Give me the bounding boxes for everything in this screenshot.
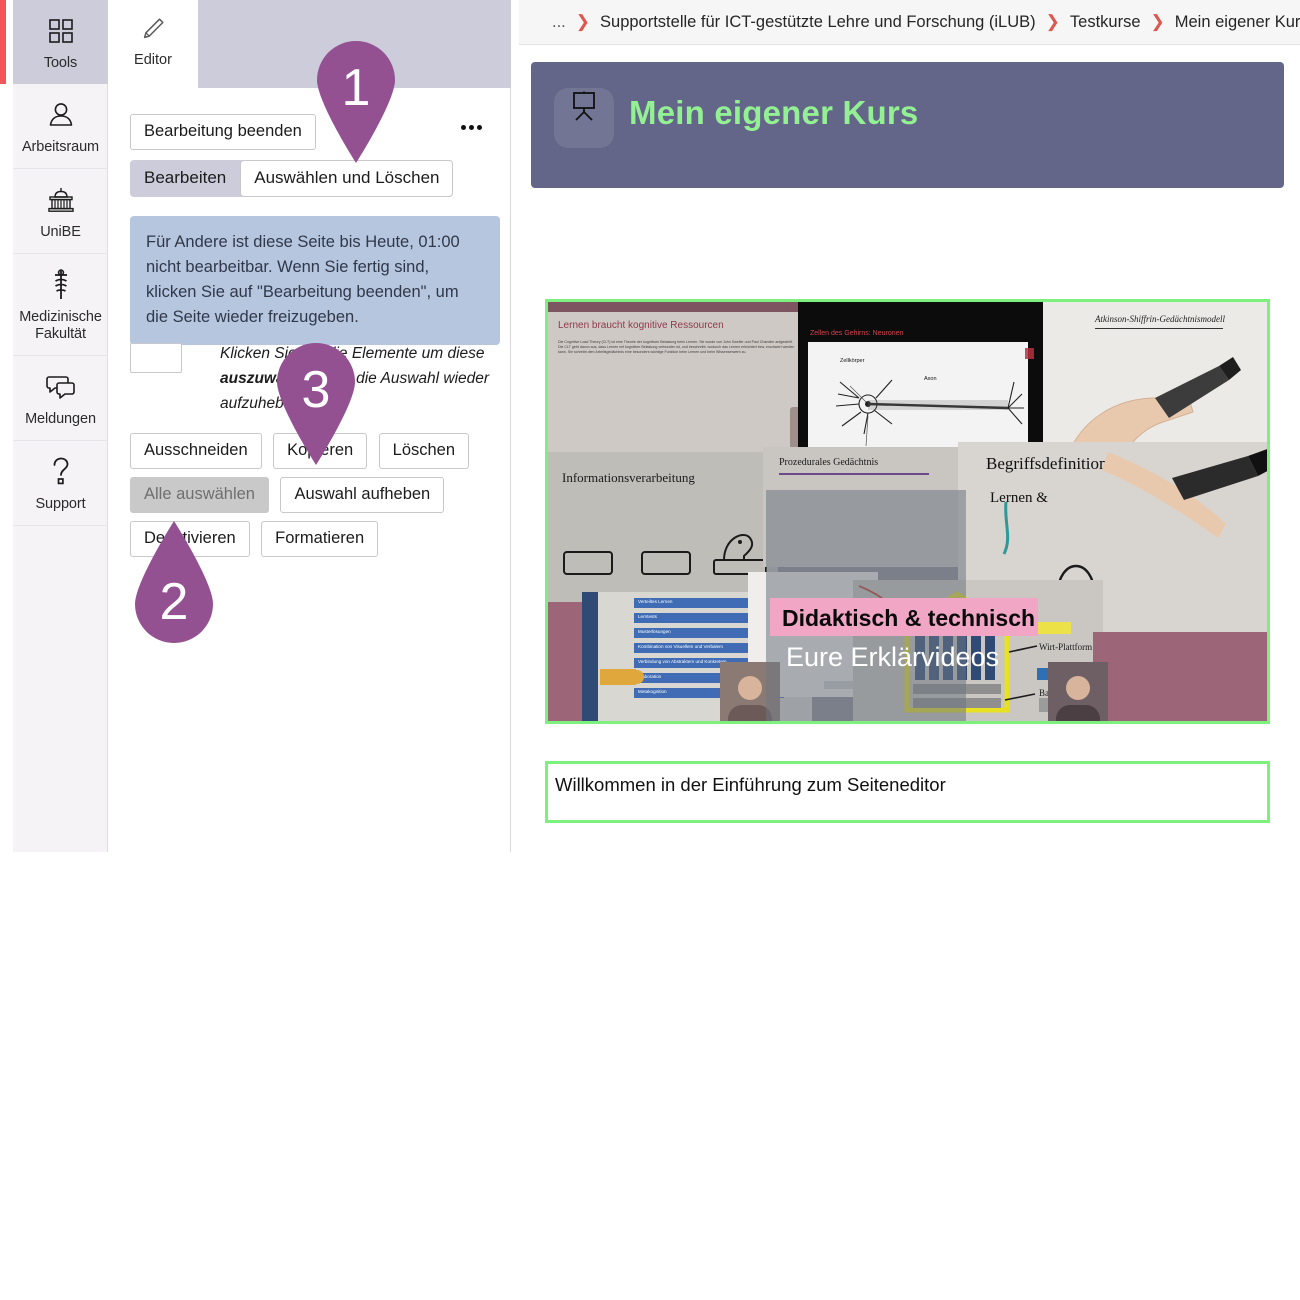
question-mark-icon <box>15 455 106 489</box>
action-row: Ausschneiden Kopieren Löschen <box>130 433 500 469</box>
select-all-button[interactable]: Alle auswählen <box>130 477 269 513</box>
rail-item-support[interactable]: Support <box>13 441 108 526</box>
university-icon <box>15 183 106 217</box>
course-header-banner: Mein eigener Kurs <box>531 62 1284 188</box>
kebab-dot <box>477 125 482 130</box>
rail-item-unibe[interactable]: UniBE <box>13 169 108 254</box>
pencil-icon <box>140 29 166 46</box>
chat-bubbles-icon <box>15 370 106 404</box>
breadcrumb-chevron-icon: ❯ <box>576 0 590 44</box>
collage-bar-label-6: Metakognition <box>638 689 667 694</box>
collage-overlay-title: Didaktisch & technisch 2 <box>782 605 1038 632</box>
deactivate-button[interactable]: Deaktivieren <box>130 521 250 557</box>
collage-handwriting-wirt: Wirt-Plattform <box>1039 642 1099 653</box>
rail-item-arbeitsraum[interactable]: Arbeitsraum <box>13 84 108 169</box>
mode-option-auswaehlen-und-loeschen[interactable]: Auswählen und Löschen <box>240 160 453 197</box>
end-editing-row: Bearbeitung beenden <box>130 114 490 150</box>
collage-bar-label-3: Kombination von Visuellem und Verbalem <box>638 644 723 649</box>
presentation-board-icon <box>554 88 614 148</box>
collage-slide-title: Lernen braucht kognitive Ressourcen <box>558 320 724 331</box>
collage-tile-magenta-block <box>1093 632 1270 724</box>
breadcrumb-ellipsis[interactable]: ... <box>552 0 566 44</box>
collage-overlay-title-band: Didaktisch & technisch 2 <box>770 598 1038 636</box>
format-button[interactable]: Formatieren <box>261 521 378 557</box>
hint-part-1: Klicken Sie auf die Elemente um diese <box>220 345 485 362</box>
cut-button[interactable]: Ausschneiden <box>130 433 262 469</box>
selection-checkbox[interactable] <box>130 343 182 373</box>
breadcrumb-item-testkurse[interactable]: Testkurse <box>1070 0 1141 44</box>
copy-button[interactable]: Kopieren <box>273 433 367 469</box>
collage-neuron-title: Zellen des Gehirns: Neuronen <box>810 330 903 337</box>
collage-bar-label-0: Verteiltes Lernen <box>638 599 672 604</box>
text-paragraph-element[interactable]: Willkommen in der Einführung zum Seitene… <box>545 761 1270 823</box>
rail-item-label: Arbeitsraum <box>15 139 106 156</box>
collage-bar-label-2: Musterlösungen <box>638 629 671 634</box>
action-row: Alle auswählen Auswahl aufheben <box>130 477 500 513</box>
editor-tabstrip: Editor <box>108 0 511 88</box>
media-collage-element[interactable]: Lernen braucht kognitive Ressourcen Die … <box>545 299 1270 724</box>
text-paragraph-content: Willkommen in der Einführung zum Seitene… <box>555 774 946 796</box>
rail-item-label: Medizinische Fakultät <box>15 309 106 343</box>
person-icon <box>15 98 106 132</box>
course-content-area: ... ❯ Supportstelle für ICT-gestützte Le… <box>519 0 1300 852</box>
page-title: Mein eigener Kurs <box>629 94 918 132</box>
deselect-all-button[interactable]: Auswahl aufheben <box>280 477 444 513</box>
tab-editor-label: Editor <box>108 52 198 68</box>
rail-item-label: Support <box>15 496 106 513</box>
asclepius-icon <box>15 268 106 302</box>
rail-item-tools[interactable]: Tools <box>13 0 108 84</box>
selection-hint-text: Klicken Sie auf die Elemente um diese au… <box>220 341 500 416</box>
breadcrumb-chevron-icon: ❯ <box>1046 0 1060 44</box>
more-options-kebab-icon[interactable] <box>456 119 486 143</box>
kebab-dot <box>461 125 466 130</box>
collage-slide-body: Die Cognitive Load Theory (CLT) ist eine… <box>558 340 798 440</box>
breadcrumb: ... ❯ Supportstelle für ICT-gestützte Le… <box>519 0 1300 45</box>
mode-option-bearbeiten[interactable]: Bearbeiten <box>130 160 240 197</box>
collage-webcam-thumb-right <box>1048 662 1108 724</box>
selection-action-buttons: Ausschneiden Kopieren Löschen Alle auswä… <box>130 433 500 565</box>
action-row: Deaktivieren Formatieren <box>130 521 500 557</box>
collage-overlay-subtitle: Eure Erklärvideos <box>786 642 999 673</box>
grid-icon <box>15 14 106 48</box>
end-editing-button[interactable]: Bearbeitung beenden <box>130 114 316 150</box>
collage-handwriting-prozedural: Prozedurales Gedächtnis <box>779 457 878 468</box>
rail-item-label: UniBE <box>15 224 106 241</box>
breadcrumb-chevron-icon: ❯ <box>1151 0 1165 44</box>
mode-switch-group: Bearbeiten Auswählen und Löschen <box>130 160 453 197</box>
page-editor-panel: Editor Bearbeitung beenden Bearbeiten Au… <box>108 0 511 852</box>
rail-item-label: Tools <box>15 55 106 72</box>
collage-bar-label-4: Verbindung von Abstraktem und Konkretem <box>638 659 727 664</box>
breadcrumb-item-current[interactable]: Mein eigener Kurs <box>1175 0 1300 44</box>
rail-item-medizinische-fakultaet[interactable]: Medizinische Fakultät <box>13 254 108 356</box>
hint-bold-1: auszuwählen <box>220 370 316 387</box>
main-icon-rail: Tools Arbeitsraum UniBE <box>13 0 108 852</box>
rail-item-label: Meldungen <box>15 411 106 428</box>
lock-info-message: Für Andere ist diese Seite bis Heute, 01… <box>130 216 500 345</box>
rail-item-meldungen[interactable]: Meldungen <box>13 356 108 441</box>
tab-editor[interactable]: Editor <box>108 0 198 88</box>
collage-bar-label-1: Lerntests <box>638 614 657 619</box>
kebab-dot <box>469 125 474 130</box>
delete-button[interactable]: Löschen <box>379 433 469 469</box>
breadcrumb-item-ilub[interactable]: Supportstelle für ICT-gestützte Lehre un… <box>600 0 1036 44</box>
